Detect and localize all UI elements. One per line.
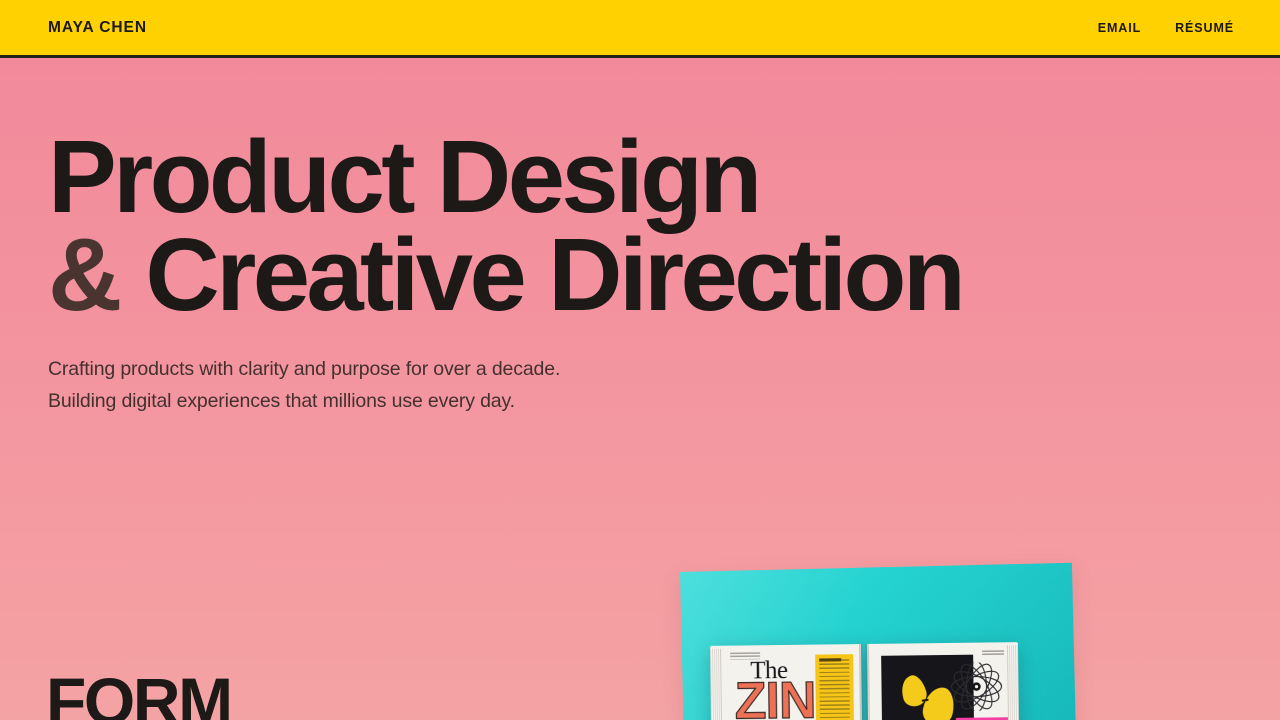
magazine-title: ZIN <box>734 678 815 720</box>
page-edge-right <box>1007 645 1019 720</box>
open-magazine: The ZIN <box>710 642 1019 720</box>
hero-section: Product Design & Creative Direction <box>48 128 962 325</box>
headline-line-2-text: Creative Direction <box>145 217 962 332</box>
atom-diagram-icon <box>948 662 1005 711</box>
subtitle-line-2: Building digital experiences that millio… <box>48 386 560 418</box>
site-logo[interactable]: MAYA CHEN <box>48 19 147 37</box>
right-page-folio <box>982 650 1004 656</box>
yellow-column-text-lines <box>819 659 850 720</box>
headline-ampersand: & <box>48 217 120 332</box>
subtitle-line-1: Crafting products with clarity and purpo… <box>48 354 560 386</box>
magazine-photo: The ZIN <box>672 560 1076 720</box>
page-edge-left <box>710 649 722 720</box>
magazine-spine-gutter <box>859 644 870 720</box>
page-title: Product Design & Creative Direction <box>48 128 962 325</box>
magazine-right-page <box>867 642 1019 720</box>
nav-link-resume[interactable]: RÉSUMÉ <box>1175 21 1234 35</box>
main-navigation: EMAIL RÉSUMÉ <box>1098 21 1234 35</box>
headline-line-1: Product Design <box>48 128 962 226</box>
magazine-left-page: The ZIN <box>710 644 862 720</box>
headline-line-2: & Creative Direction <box>48 226 962 324</box>
hero-subtitle: Crafting products with clarity and purpo… <box>48 354 560 418</box>
page-root: MAYA CHEN EMAIL RÉSUMÉ Product Design & … <box>0 0 1280 720</box>
left-page-yellow-column <box>815 654 854 720</box>
section-heading-form: FORM <box>46 668 231 720</box>
site-header: MAYA CHEN EMAIL RÉSUMÉ <box>0 0 1280 58</box>
nav-link-email[interactable]: EMAIL <box>1098 21 1141 35</box>
